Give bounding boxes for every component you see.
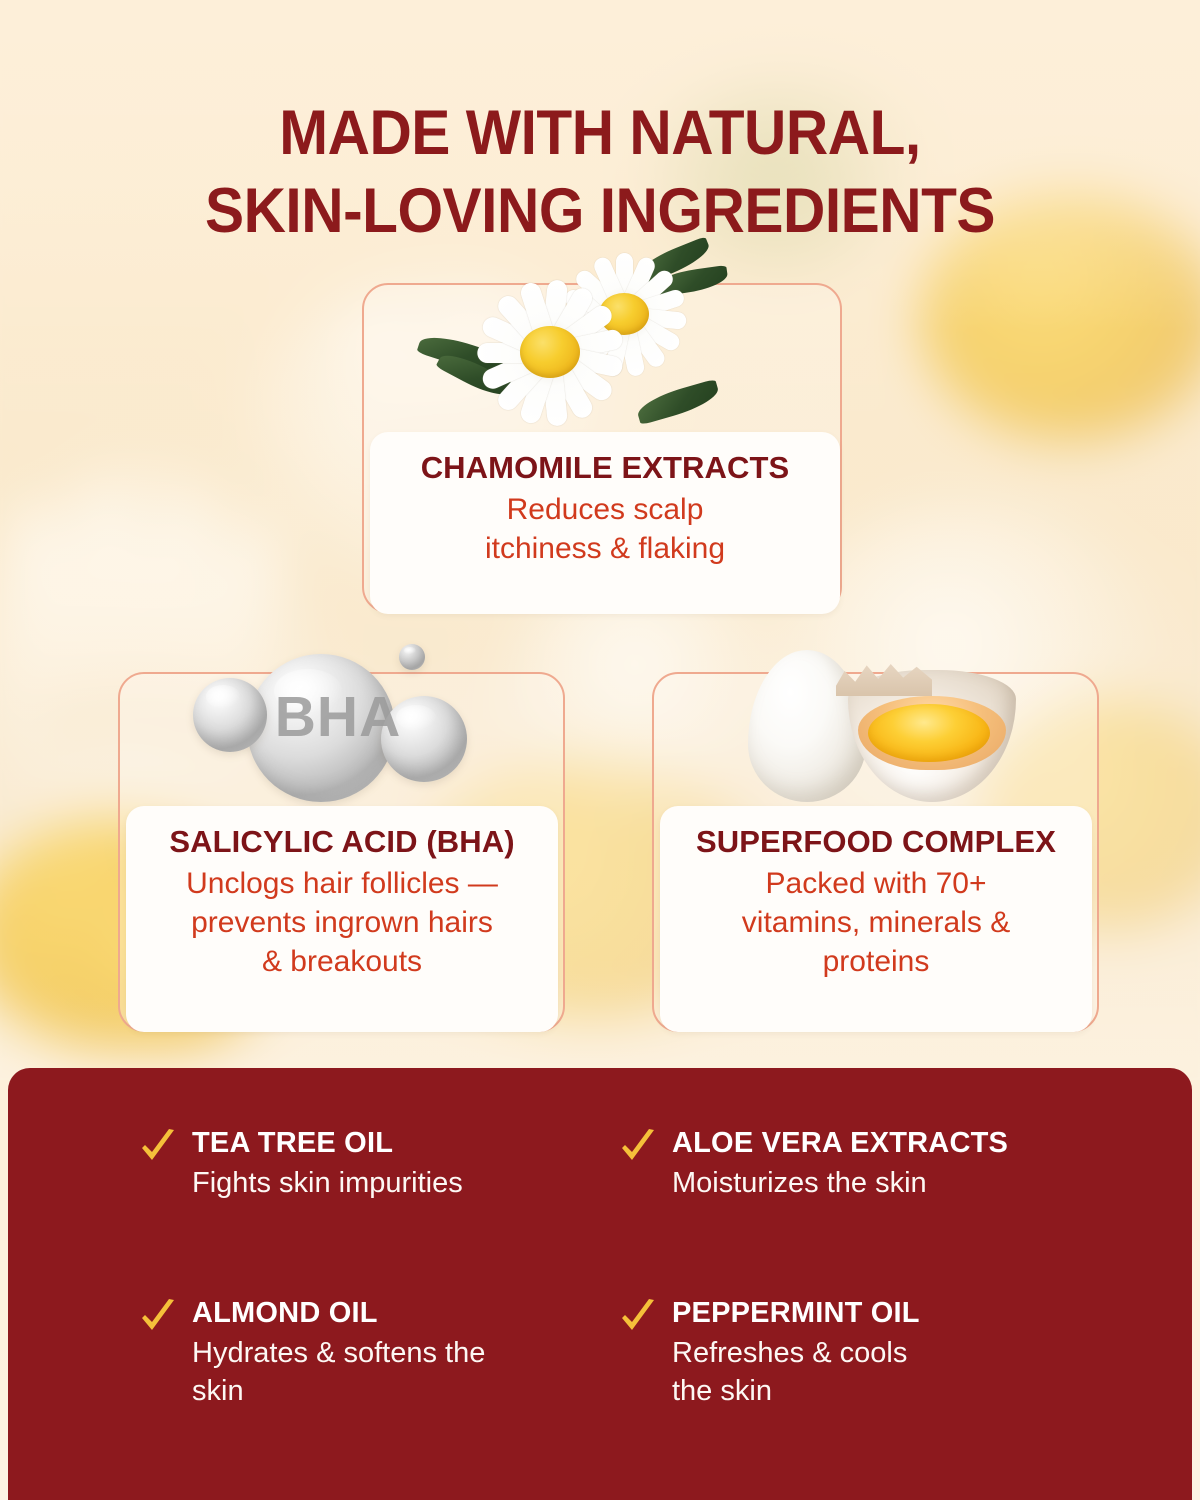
benefit-desc-line-1: Refreshes & cools — [672, 1337, 907, 1369]
benefit-title-almond-oil: ALMOND OIL — [192, 1296, 485, 1330]
benefit-item-almond-oil: ALMOND OIL Hydrates & softens the skin — [140, 1296, 590, 1410]
superfood-desc-line-3: proteins — [823, 945, 930, 978]
superfood-desc-line-1: Packed with 70+ — [766, 867, 987, 900]
chamomile-desc-line-2: itchiness & flaking — [485, 532, 725, 565]
salicylic-acid-description: Unclogs hair follicles — prevents ingrow… — [140, 864, 544, 981]
salicylic-desc-line-3: & breakouts — [262, 945, 422, 978]
chamomile-desc-line-1: Reduces scalp — [507, 493, 704, 526]
benefit-desc-line-1: Moisturizes the skin — [672, 1167, 927, 1199]
benefit-desc-tea-tree-oil: Fights skin impurities — [192, 1164, 463, 1202]
headline-line-1: MADE WITH NATURAL, — [279, 98, 920, 168]
benefit-desc-line-2: skin — [192, 1375, 244, 1407]
benefit-item-aloe-vera-extracts: ALOE VERA EXTRACTS Moisturizes the skin — [620, 1126, 1090, 1202]
salicylic-acid-title: SALICYLIC ACID (BHA) — [140, 822, 544, 862]
benefit-desc-peppermint-oil: Refreshes & cools the skin — [672, 1334, 920, 1410]
check-icon — [620, 1298, 656, 1338]
benefit-item-tea-tree-oil: TEA TREE OIL Fights skin impurities — [140, 1126, 590, 1202]
benefit-title-aloe-vera-extracts: ALOE VERA EXTRACTS — [672, 1126, 1008, 1160]
benefit-title-peppermint-oil: PEPPERMINT OIL — [672, 1296, 920, 1330]
salicylic-acid-textbox: SALICYLIC ACID (BHA) Unclogs hair follic… — [126, 806, 558, 1032]
ingredients-infographic: MADE WITH NATURAL, SKIN-LOVING INGREDIEN… — [0, 0, 1200, 1500]
superfood-complex-textbox: SUPERFOOD COMPLEX Packed with 70+ vitami… — [660, 806, 1092, 1032]
superfood-complex-title: SUPERFOOD COMPLEX — [674, 822, 1078, 862]
chamomile-title: CHAMOMILE EXTRACTS — [384, 448, 826, 488]
check-icon — [620, 1128, 656, 1168]
benefit-desc-line-1: Fights skin impurities — [192, 1167, 463, 1199]
benefit-desc-line-1: Hydrates & softens the — [192, 1337, 485, 1369]
superfood-desc-line-2: vitamins, minerals & — [742, 906, 1010, 939]
benefit-item-peppermint-oil: PEPPERMINT OIL Refreshes & cools the ski… — [620, 1296, 1090, 1410]
chamomile-textbox: CHAMOMILE EXTRACTS Reduces scalp itchine… — [370, 432, 840, 614]
page-title: MADE WITH NATURAL, SKIN-LOVING INGREDIEN… — [42, 94, 1158, 250]
benefit-desc-almond-oil: Hydrates & softens the skin — [192, 1334, 485, 1410]
chamomile-description: Reduces scalp itchiness & flaking — [384, 490, 826, 568]
headline-line-2: SKIN-LOVING INGREDIENTS — [42, 172, 1158, 250]
superfood-complex-description: Packed with 70+ vitamins, minerals & pro… — [674, 864, 1078, 981]
benefit-title-tea-tree-oil: TEA TREE OIL — [192, 1126, 463, 1160]
benefit-desc-aloe-vera-extracts: Moisturizes the skin — [672, 1164, 1008, 1202]
check-icon — [140, 1298, 176, 1338]
check-icon — [140, 1128, 176, 1168]
salicylic-desc-line-1: Unclogs hair follicles — — [186, 867, 498, 900]
salicylic-desc-line-2: prevents ingrown hairs — [191, 906, 493, 939]
benefit-desc-line-2: the skin — [672, 1375, 772, 1407]
benefits-panel: TEA TREE OIL Fights skin impurities ALOE… — [8, 1068, 1192, 1500]
